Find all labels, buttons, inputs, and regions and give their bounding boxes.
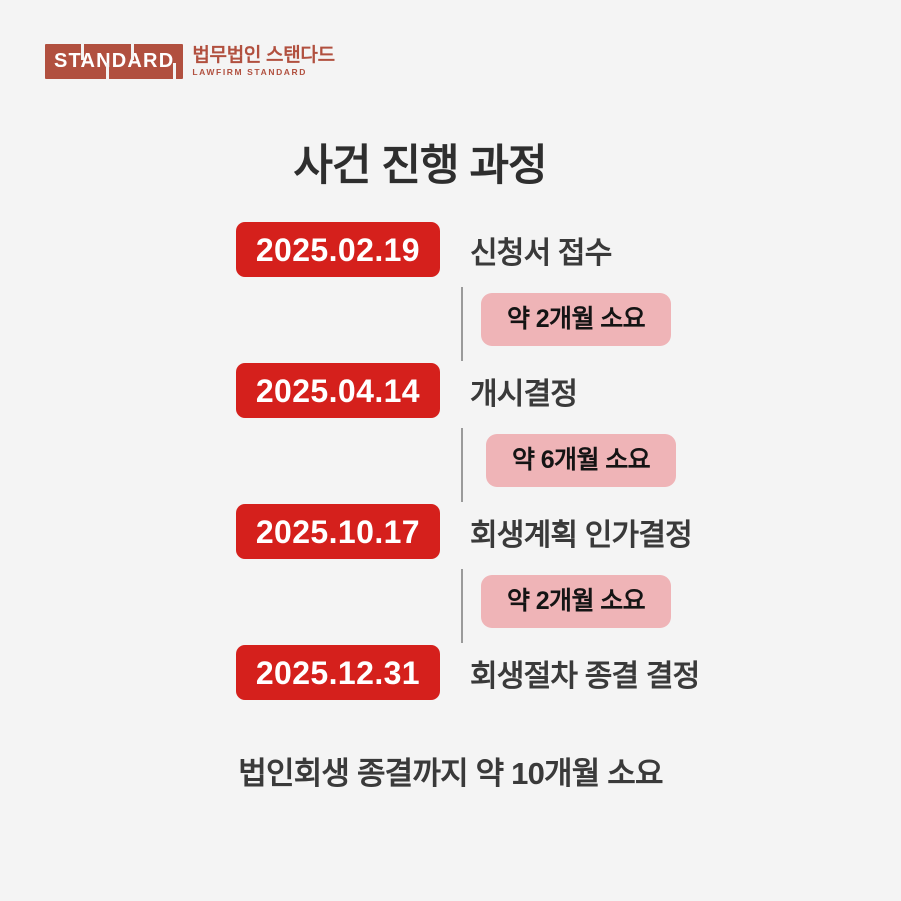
timeline-gap-2: 약 2개월 소요 (0, 567, 901, 645)
timeline-step-1: 2025.04.14 개시결정 (0, 363, 901, 426)
logo-korean-name: 법무법인 스탠다드 (192, 46, 334, 66)
timeline-step-0: 2025.02.19 신청서 접수 (0, 222, 901, 285)
date-badge-label: 2025.12.31 (256, 657, 420, 689)
connector-line-1 (461, 428, 463, 502)
connector-line-0 (461, 287, 463, 361)
logo-mark-text: STANDARD (54, 51, 174, 71)
date-badge-label: 2025.04.14 (256, 375, 420, 407)
logo-wordmark: 법무법인 스탠다드 LAWFIRM STANDARD (192, 46, 334, 76)
logo-slit-4 (173, 63, 176, 80)
logo-slit-3 (131, 43, 134, 60)
date-badge-2: 2025.10.17 (236, 504, 440, 559)
date-badge-label: 2025.02.19 (256, 234, 420, 266)
duration-pill-0: 약 2개월 소요 (481, 293, 671, 346)
duration-pill-label: 약 6개월 소요 (512, 448, 650, 473)
logo-slit-1 (81, 43, 84, 60)
date-badge-3: 2025.12.31 (236, 645, 440, 700)
page-title: 사건 진행 과정 (0, 141, 840, 193)
summary-footer: 법인회생 종결까지 약 10개월 소요 (0, 748, 901, 793)
duration-pill-label: 약 2개월 소요 (507, 589, 645, 614)
timeline-gap-0: 약 2개월 소요 (0, 285, 901, 363)
timeline-step-2: 2025.10.17 회생계획 인가결정 (0, 504, 901, 567)
duration-pill-label: 약 2개월 소요 (507, 307, 645, 332)
timeline-gap-1: 약 6개월 소요 (0, 426, 901, 504)
event-label-2: 회생계획 인가결정 (470, 504, 692, 559)
event-label-1: 개시결정 (470, 363, 577, 418)
brand-logo: STANDARD 법무법인 스탠다드 LAWFIRM STANDARD (45, 44, 335, 79)
event-label-3: 회생절차 종결 결정 (470, 645, 699, 700)
date-badge-0: 2025.02.19 (236, 222, 440, 277)
connector-line-2 (461, 569, 463, 643)
standard-logo-mark: STANDARD (45, 44, 183, 79)
event-label-0: 신청서 접수 (470, 222, 612, 277)
duration-pill-2: 약 2개월 소요 (481, 575, 671, 628)
logo-slit-2 (106, 63, 109, 80)
case-progress-timeline: 2025.02.19 신청서 접수 약 2개월 소요 2025.04.14 개시… (0, 222, 901, 708)
date-badge-1: 2025.04.14 (236, 363, 440, 418)
duration-pill-1: 약 6개월 소요 (486, 434, 676, 487)
date-badge-label: 2025.10.17 (256, 516, 420, 548)
timeline-step-3: 2025.12.31 회생절차 종결 결정 (0, 645, 901, 708)
logo-english-name: LAWFIRM STANDARD (192, 68, 334, 77)
